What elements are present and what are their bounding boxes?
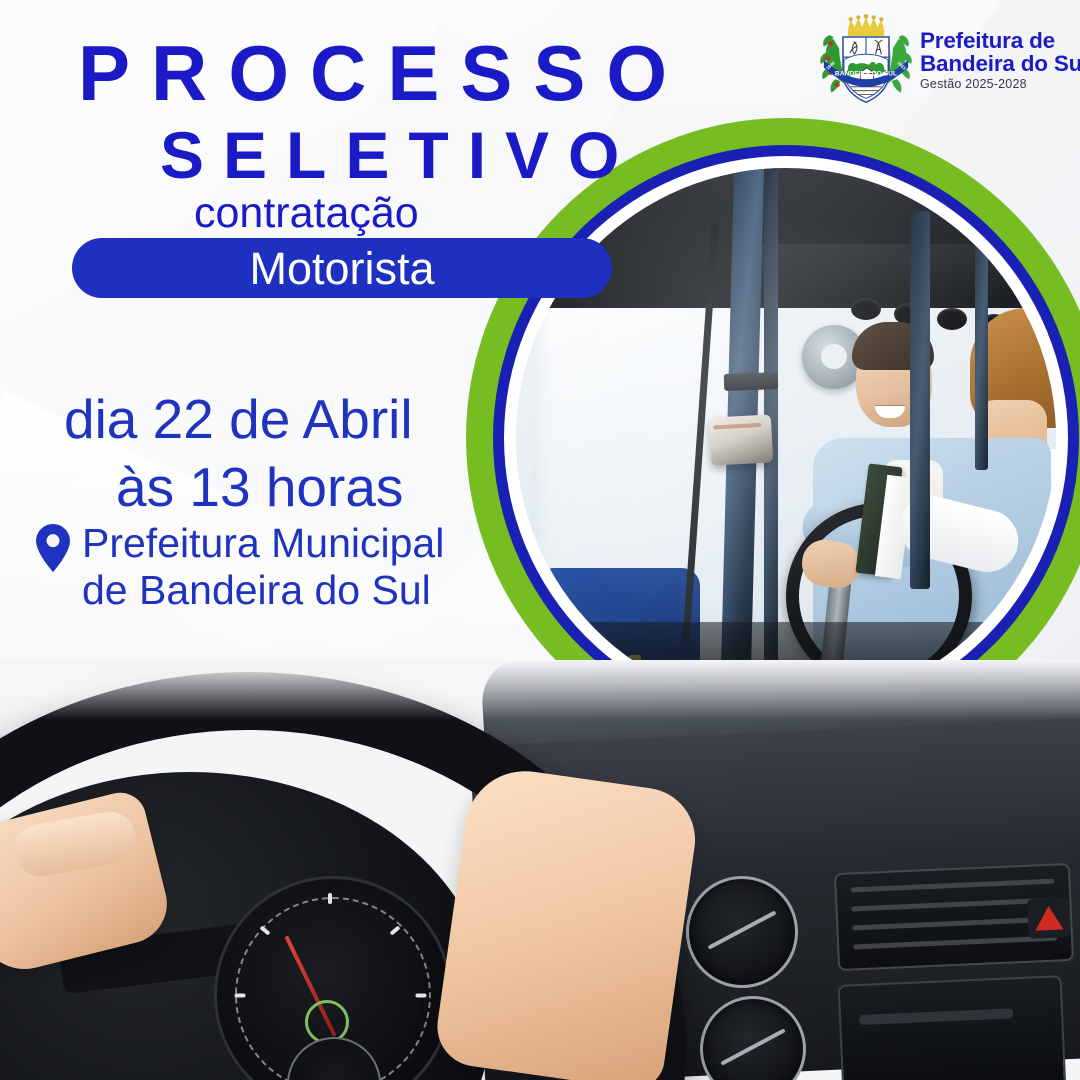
event-location-row: Prefeitura Municipal de Bandeira do Sul [36,520,444,613]
vent-slat [720,1028,785,1065]
console-slot [859,1008,1013,1025]
logo-line-1: Prefeitura de [920,29,1080,52]
role-pill-label: Motorista [249,246,434,291]
air-vent-icon [686,876,798,988]
logo-text-block: Prefeitura de Bandeira do Sul Gestão 202… [920,29,1080,92]
coat-of-arms-icon: BANDEIRA DO SUL 1949 1953 [818,14,914,106]
headline-line-processo: PROCESSO [78,34,688,112]
role-pill: Motorista [72,238,612,298]
right-hand [432,763,702,1080]
event-date: dia 22 de Abril [64,392,413,447]
cabin-pillar [975,200,988,470]
hazard-triangle-icon [1034,905,1063,930]
poster: PROCESSO SELETIVO contratação Motorista … [0,0,1080,1080]
event-location: Prefeitura Municipal de Bandeira do Sul [82,520,444,613]
prefeitura-logo: BANDEIRA DO SUL 1949 1953 Prefeitura de … [818,12,1076,108]
cabin-pillar [910,211,929,589]
car-photo-top-fade [0,660,1080,720]
mirror-housing [709,415,773,466]
headline-line-seletivo: SELETIVO [160,122,638,188]
steering-wheel-photo [0,660,1080,1080]
location-pin-icon [36,524,70,572]
event-time: às 13 horas [116,460,403,515]
pillar-clamp [724,372,779,391]
vent-slat [707,910,776,949]
logo-line-2: Bandeira do Sul [920,52,1080,75]
hazard-button [1027,897,1071,939]
radio-console [838,975,1067,1080]
svg-text:BANDEIRA DO SUL: BANDEIRA DO SUL [835,70,897,77]
logo-line-3: Gestão 2025-2028 [920,78,1080,91]
headline-line-contratacao: contratação [194,192,419,235]
